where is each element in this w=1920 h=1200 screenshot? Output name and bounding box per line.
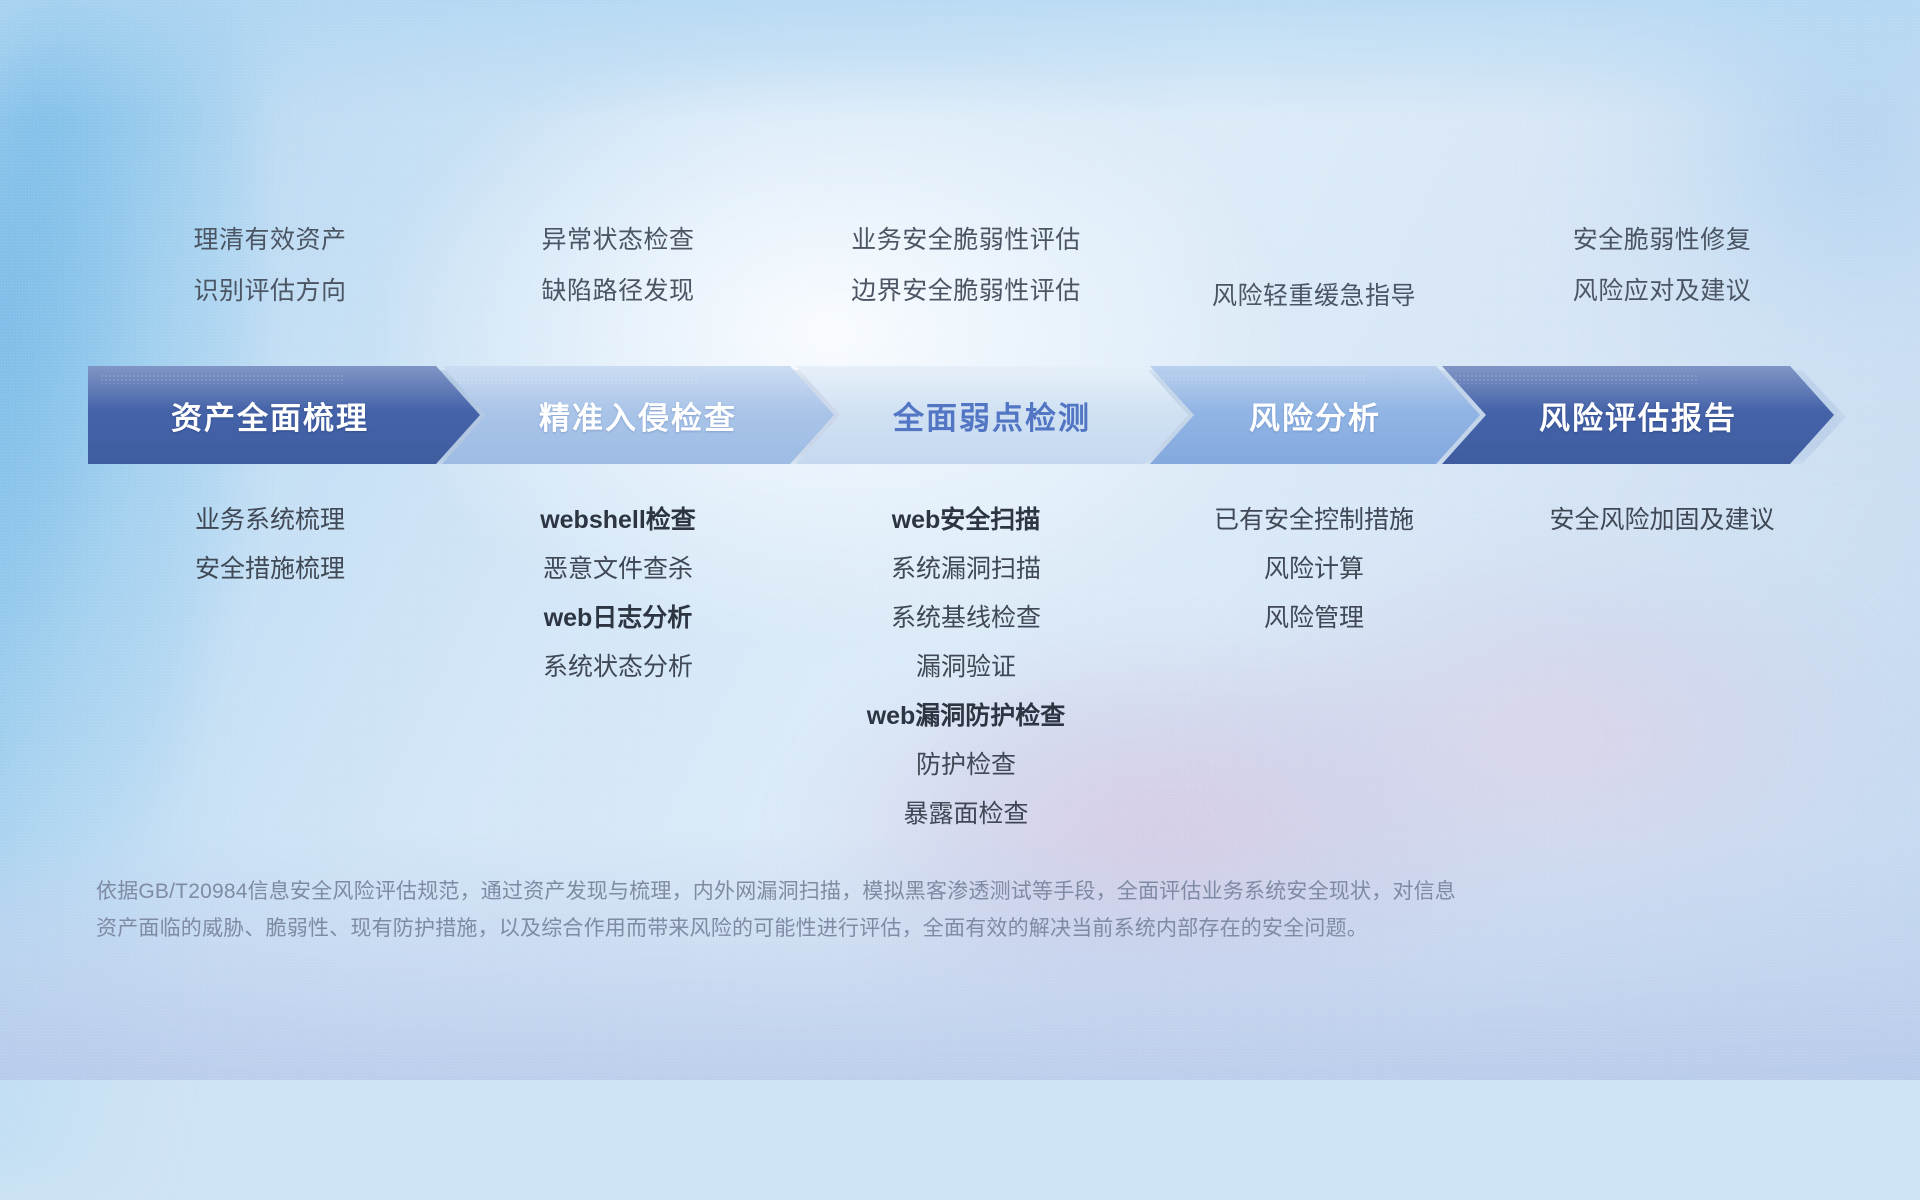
stage-arrow-label: 风险评估报告 — [1539, 393, 1737, 438]
list-item: 暴露面检查 — [903, 802, 1028, 827]
list-item: 风险管理 — [1264, 606, 1364, 631]
list-item: 系统基线检查 — [891, 606, 1041, 631]
bottom-items-risk-analysis: 已有安全控制措施风险计算风险管理 — [1140, 508, 1488, 827]
list-item: 恶意文件查杀 — [543, 557, 693, 582]
top-labels-risk-analysis: 风险轻重缓急指导 — [1140, 228, 1488, 338]
stage-arrow-dot-texture — [1454, 374, 1697, 384]
stage-arrow-list: 资产全面梳理精准入侵检查全面弱点检测风险分析风险评估报告 — [88, 366, 1846, 464]
top-labels-assessment-report: 安全脆弱性修复风险应对及建议 — [1488, 228, 1836, 338]
top-labels-intrusion-check: 异常状态检查缺陷路径发现 — [444, 228, 792, 338]
stage-arrow-dot-texture — [1162, 374, 1367, 384]
top-label: 风险应对及建议 — [1573, 279, 1752, 304]
footer-description: 依据GB/T20984信息安全风险评估规范，通过资产发现与梳理，内外网漏洞扫描，… — [96, 874, 1606, 948]
stage-arrow-band: 资产全面梳理精准入侵检查全面弱点检测风险分析风险评估报告 — [88, 366, 1846, 464]
list-item: web日志分析 — [544, 606, 693, 631]
top-label: 异常状态检查 — [541, 228, 694, 253]
top-label: 缺陷路径发现 — [541, 279, 694, 304]
top-label: 风险轻重缓急指导 — [1212, 284, 1416, 309]
list-item: 系统漏洞扫描 — [891, 557, 1041, 582]
bottom-item-row: 业务系统梳理安全措施梳理webshell检查恶意文件查杀web日志分析系统状态分… — [96, 508, 1836, 827]
stage-arrow-assessment-report[interactable]: 风险评估报告 — [1442, 366, 1834, 464]
list-item: webshell检查 — [540, 508, 696, 533]
stage-arrow-dot-texture — [454, 374, 697, 384]
top-label: 理清有效资产 — [193, 228, 346, 253]
list-item: web安全扫描 — [892, 508, 1041, 533]
stage-arrow-risk-analysis[interactable]: 风险分析 — [1150, 366, 1480, 464]
top-label-row: 理清有效资产识别评估方向异常状态检查缺陷路径发现业务安全脆弱性评估边界安全脆弱性… — [96, 228, 1836, 338]
top-labels-weakness-detection: 业务安全脆弱性评估边界安全脆弱性评估 — [792, 228, 1140, 338]
stage-arrow-dot-texture — [808, 374, 1051, 384]
stage-arrow-label: 资产全面梳理 — [171, 393, 369, 438]
list-item: 业务系统梳理 — [195, 508, 345, 533]
top-label: 安全脆弱性修复 — [1573, 228, 1752, 253]
stage-arrow-label: 精准入侵检查 — [539, 393, 737, 438]
stage-arrow-weakness-detection[interactable]: 全面弱点检测 — [796, 366, 1188, 464]
list-item: 风险计算 — [1264, 557, 1364, 582]
bottom-items-weakness-detection: web安全扫描系统漏洞扫描系统基线检查漏洞验证web漏洞防护检查防护检查暴露面检… — [792, 508, 1140, 827]
top-label: 识别评估方向 — [193, 279, 346, 304]
top-label: 边界安全脆弱性评估 — [851, 279, 1081, 304]
stage-arrow-label: 风险分析 — [1249, 393, 1381, 438]
list-item: 安全风险加固及建议 — [1549, 508, 1774, 533]
bottom-items-intrusion-check: webshell检查恶意文件查杀web日志分析系统状态分析 — [444, 508, 792, 827]
footer-line-2: 资产面临的威胁、脆弱性、现有防护措施，以及综合作用而带来风险的可能性进行评估，全… — [96, 911, 1606, 948]
footer-line-1: 依据GB/T20984信息安全风险评估规范，通过资产发现与梳理，内外网漏洞扫描，… — [96, 874, 1606, 911]
bottom-items-assessment-report: 安全风险加固及建议 — [1488, 508, 1836, 827]
top-label: 业务安全脆弱性评估 — [851, 228, 1081, 253]
list-item: 防护检查 — [916, 753, 1016, 778]
stage-arrow-dot-texture — [100, 374, 343, 384]
top-labels-asset-inventory: 理清有效资产识别评估方向 — [96, 228, 444, 338]
list-item: web漏洞防护检查 — [867, 704, 1066, 729]
list-item: 系统状态分析 — [543, 655, 693, 680]
list-item: 漏洞验证 — [916, 655, 1016, 680]
stage-arrow-asset-inventory[interactable]: 资产全面梳理 — [88, 366, 480, 464]
bottom-items-asset-inventory: 业务系统梳理安全措施梳理 — [96, 508, 444, 827]
process-diagram: 理清有效资产识别评估方向异常状态检查缺陷路径发现业务安全脆弱性评估边界安全脆弱性… — [0, 0, 1920, 1080]
list-item: 已有安全控制措施 — [1214, 508, 1414, 533]
list-item: 安全措施梳理 — [195, 557, 345, 582]
stage-arrow-label: 全面弱点检测 — [893, 393, 1091, 438]
stage-arrow-intrusion-check[interactable]: 精准入侵检查 — [442, 366, 834, 464]
